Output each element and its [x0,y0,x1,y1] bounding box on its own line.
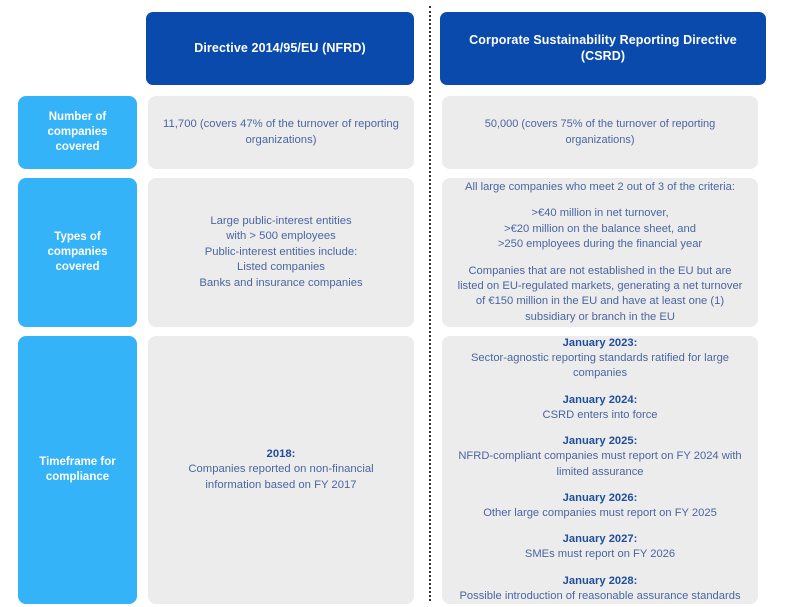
cell-nfrd-companies-covered: 11,700 (covers 47% of the turnover of re… [148,96,414,169]
cell-csrd-companies-covered-text: 50,000 (covers 75% of the turnover of re… [456,117,744,147]
cell-nfrd-timeframe-body: 2018: Companies reported on non-financia… [162,447,400,494]
cell-nfrd-companies-covered-text: 11,700 (covers 47% of the turnover of re… [162,117,400,148]
csrd-timeline-text: CSRD enters into force [542,409,657,421]
nfrd-types-line-1: Large public-interest entities [210,215,351,227]
nfrd-types-line-3: Public-interest entities include: [205,246,358,258]
csrd-timeline-heading: January 2025: [456,434,744,449]
row-label-text: Types of companies covered [26,230,129,276]
nfrd-types-line-2: with > 500 employees [226,230,336,242]
cell-csrd-timeframe: January 2023: Sector-agnostic reporting … [442,336,758,604]
csrd-third-country-rule: Companies that are not established in th… [458,265,743,323]
cell-csrd-types-of-companies: All large companies who meet 2 out of 3 … [442,178,758,327]
csrd-types-intro: All large companies who meet 2 out of 3 … [465,181,735,193]
spacer [456,253,744,264]
cell-csrd-types-body: All large companies who meet 2 out of 3 … [456,180,744,326]
nfrd-types-line-4: Listed companies [237,261,325,273]
csrd-timeline-heading: January 2028: [456,574,744,589]
column-header-csrd: Corporate Sustainability Reporting Direc… [440,12,766,85]
csrd-timeline-text: Possible introduction of reasonable assu… [459,590,740,602]
column-divider [429,6,431,601]
cell-csrd-companies-covered: 50,000 (covers 75% of the turnover of re… [442,96,758,169]
cell-nfrd-types-of-companies: Large public-interest entities with > 50… [148,178,414,327]
csrd-timeline-item: January 2028: Possible introduction of r… [456,574,744,604]
csrd-timeline-text: Other large companies must report on FY … [483,507,717,519]
nfrd-timeframe-heading: 2018: [162,447,400,463]
csrd-timeline-item: January 2026: Other large companies must… [456,491,744,521]
cell-nfrd-types-body: Large public-interest entities with > 50… [162,214,400,292]
csrd-timeline-text: NFRD-compliant companies must report on … [458,450,741,477]
column-header-nfrd-label: Directive 2014/95/EU (NFRD) [194,41,366,57]
csrd-timeline-heading: January 2026: [456,491,744,506]
row-label-text: Timeframe for compliance [26,455,129,485]
csrd-timeline-heading: January 2027: [456,532,744,547]
csrd-timeline-item: January 2027: SMEs must report on FY 202… [456,532,744,562]
csrd-criteria-3: >250 employees during the financial year [498,238,702,250]
comparison-table: Directive 2014/95/EU (NFRD) Corporate Su… [0,0,791,607]
row-label-types-of-companies-covered: Types of companies covered [18,178,137,327]
spacer [456,195,744,206]
row-label-number-of-companies-covered: Number of companies covered [18,96,137,169]
cell-csrd-timeframe-body: January 2023: Sector-agnostic reporting … [456,336,744,604]
csrd-timeline-item: January 2023: Sector-agnostic reporting … [456,336,744,382]
csrd-timeline-text: Sector-agnostic reporting standards rati… [471,352,729,379]
csrd-timeline-text: SMEs must report on FY 2026 [525,548,675,560]
nfrd-timeframe-text: Companies reported on non-financial info… [188,463,373,491]
row-label-timeframe-for-compliance: Timeframe for compliance [18,336,137,604]
csrd-timeline-heading: January 2023: [456,336,744,351]
cell-nfrd-timeframe: 2018: Companies reported on non-financia… [148,336,414,604]
csrd-timeline-item: January 2025: NFRD-compliant companies m… [456,434,744,480]
nfrd-types-line-5: Banks and insurance companies [199,277,362,289]
column-header-nfrd: Directive 2014/95/EU (NFRD) [146,12,414,85]
csrd-criteria-1: >€40 million in net turnover, [531,207,668,219]
row-label-text: Number of companies covered [26,110,129,156]
csrd-timeline-heading: January 2024: [456,393,744,408]
csrd-timeline-item: January 2024: CSRD enters into force [456,393,744,423]
column-header-csrd-label: Corporate Sustainability Reporting Direc… [450,33,756,64]
csrd-criteria-2: >€20 million on the balance sheet, and [504,223,696,235]
